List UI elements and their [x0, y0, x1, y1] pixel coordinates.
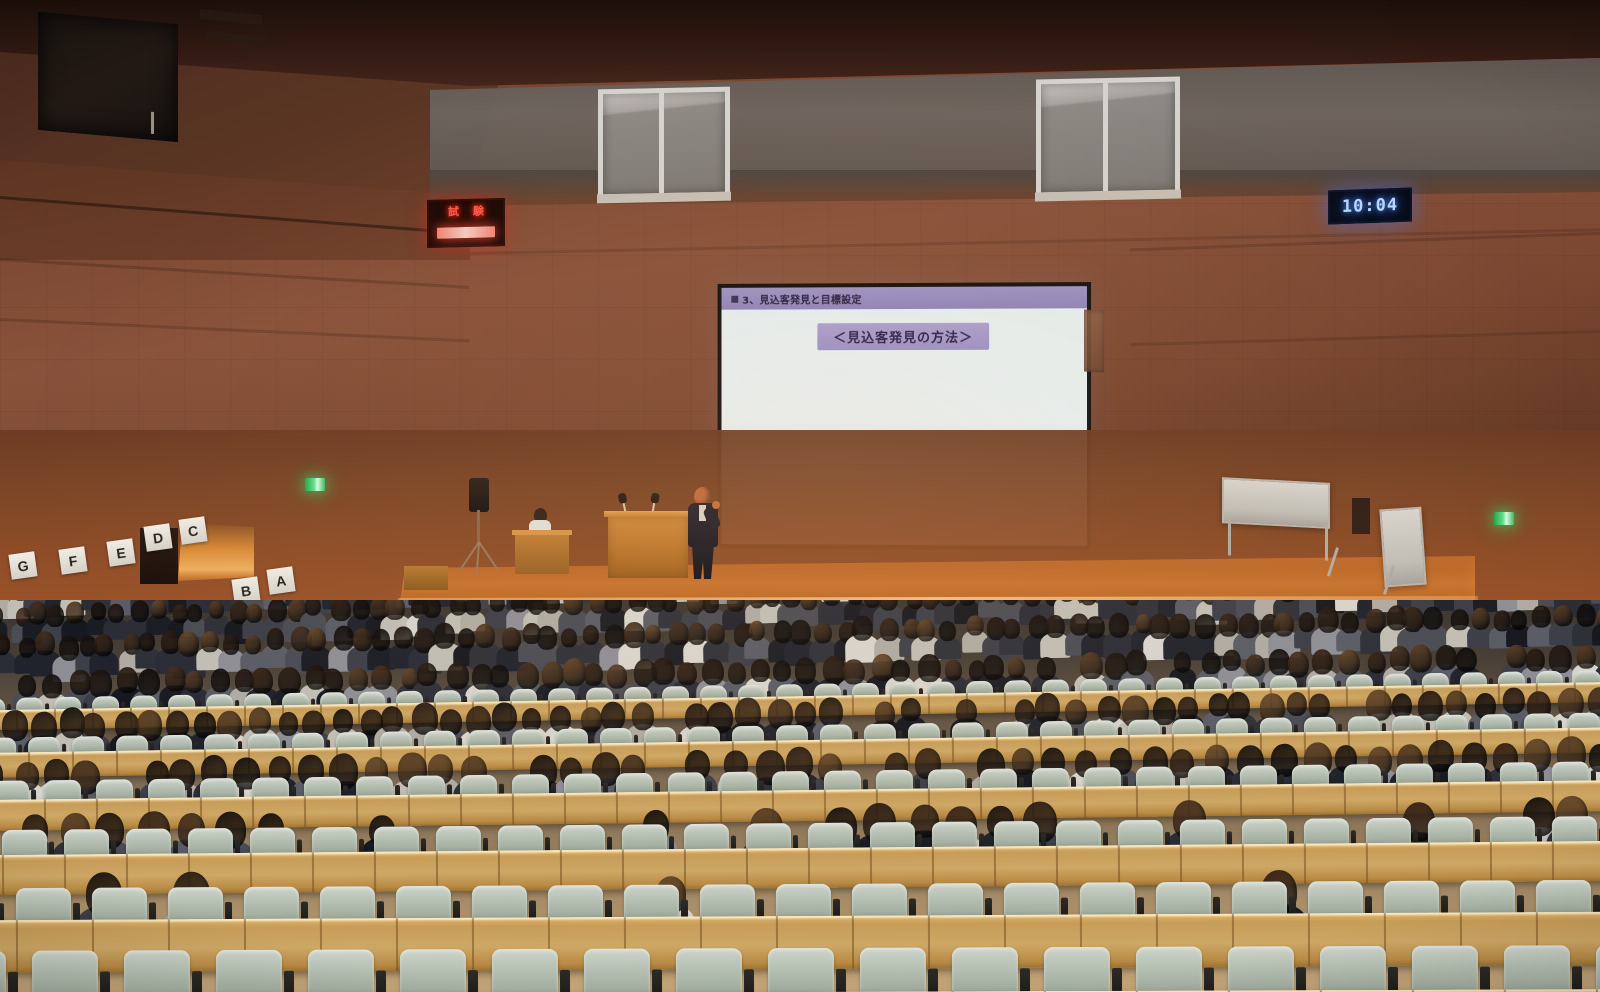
attendee-head — [70, 669, 91, 694]
attendee-head — [677, 661, 697, 685]
seat-cushion[interactable] — [860, 948, 926, 992]
attendee-head — [983, 655, 1004, 680]
presenter-legs — [692, 545, 714, 579]
attendee-head — [1445, 691, 1466, 717]
seat-armrest-post — [836, 969, 846, 992]
attendee-head — [955, 699, 976, 725]
seat-cushion[interactable] — [1136, 947, 1202, 992]
attendee-head — [1436, 644, 1458, 670]
seat-armrest-post — [1296, 967, 1306, 992]
attendee-head — [1423, 606, 1443, 630]
attendee-head — [417, 662, 437, 685]
attendee-head — [819, 697, 844, 726]
seat-cushion[interactable] — [584, 949, 650, 992]
audience-seating — [0, 600, 1600, 992]
desk-top — [512, 530, 572, 535]
attendee-head — [708, 623, 726, 644]
attendee-head — [561, 628, 577, 648]
seat-cushion[interactable] — [124, 950, 190, 992]
attendee-head — [1298, 613, 1314, 633]
attendee-head — [35, 631, 56, 656]
pa-speaker-on-tripod — [466, 478, 492, 578]
slide-title-text: ＜見込客発見の方法＞ — [833, 327, 973, 346]
attendee-head — [1035, 693, 1060, 723]
attendee-head — [490, 664, 509, 687]
attendee-head — [385, 600, 405, 621]
seat-armrest-post — [376, 970, 386, 992]
attendee-head — [1178, 697, 1198, 721]
attendee-head — [66, 602, 84, 624]
attendee-head — [939, 621, 956, 641]
attendee-head — [1392, 693, 1413, 718]
seat-armrest-post — [100, 971, 110, 992]
led-char-2: 験 — [473, 206, 484, 217]
attendee-head — [465, 600, 481, 616]
attendee-head — [1086, 616, 1105, 639]
seat-cushion[interactable] — [676, 949, 742, 992]
attendee-head — [266, 628, 284, 650]
attendee-head — [967, 615, 984, 635]
attendee-head — [751, 659, 770, 682]
seat-armrest-post — [1572, 966, 1582, 992]
attendee-head — [89, 669, 112, 697]
attendee-head — [246, 604, 262, 623]
attendee-head — [601, 702, 626, 732]
attendee-head — [1510, 610, 1527, 630]
row-sign-label: D — [152, 529, 164, 546]
attendee-head — [1003, 619, 1020, 639]
attendee-head — [1341, 612, 1359, 633]
slide-header-text: 3、見込客発見と目標設定 — [742, 291, 861, 306]
attendee-head — [1532, 606, 1550, 628]
seat-cushion[interactable] — [492, 949, 558, 992]
attendee-head — [652, 657, 675, 685]
attendee-head — [165, 666, 186, 691]
attendee-head — [1008, 658, 1025, 679]
attendee-head — [322, 668, 343, 694]
attendee-head — [277, 667, 300, 695]
attendee-head — [917, 654, 940, 682]
attendee-head — [1456, 647, 1477, 672]
acoustic-panel-opening — [38, 12, 178, 142]
attendee-head — [91, 602, 106, 620]
attendee-head — [372, 629, 391, 651]
attendee-head — [879, 618, 898, 641]
attendee-head — [814, 622, 832, 644]
row-sign-label: C — [187, 522, 199, 539]
attendee-head — [1194, 614, 1215, 640]
booth-window-left — [598, 87, 730, 200]
attendee-head — [1312, 649, 1334, 675]
seat-armrest-post — [928, 969, 938, 992]
row-sign-label: B — [240, 582, 252, 599]
attendee-head — [245, 635, 261, 654]
clock-time: 10:04 — [1342, 195, 1398, 217]
attendee-head — [333, 626, 354, 651]
attendee-head — [1317, 607, 1339, 633]
attendee-head — [1045, 615, 1065, 638]
seat-cushion[interactable] — [952, 948, 1018, 992]
attendee-head — [1548, 645, 1571, 673]
presenter-hand — [712, 501, 720, 509]
attendee-head — [688, 623, 706, 645]
seat-armrest-post — [1388, 967, 1398, 992]
slide-title-box: ＜見込客発見の方法＞ — [817, 323, 989, 351]
panel-light-slit — [151, 112, 154, 134]
attendee-head — [1173, 651, 1191, 672]
attendee-head — [1209, 693, 1229, 717]
attendee-head — [1554, 605, 1572, 627]
attendee-head — [1507, 644, 1527, 668]
attendee-head — [1273, 612, 1294, 637]
row-sign-D: D — [143, 523, 172, 551]
attendee-head — [18, 674, 37, 697]
attendee-head — [875, 702, 895, 727]
attendee-head — [1037, 656, 1057, 680]
attendee-head — [1080, 652, 1103, 679]
attendee-head — [1409, 644, 1432, 672]
attendee-head — [42, 674, 62, 698]
row-sign-E: E — [106, 538, 135, 566]
seat-cushion[interactable] — [308, 950, 374, 992]
seat-armrest-post — [192, 971, 202, 992]
stage-dark-speaker — [1352, 498, 1370, 534]
seat-armrest-post — [1204, 968, 1214, 992]
attendee-head — [209, 600, 225, 619]
attendee-head — [1577, 646, 1596, 669]
seat-cushion[interactable] — [32, 951, 98, 992]
attendee-head — [1287, 651, 1309, 677]
attendee-head — [917, 620, 936, 643]
attendee-head — [116, 667, 138, 693]
attendee-head — [843, 659, 865, 685]
led-bar — [437, 226, 495, 239]
attendee-head — [1451, 609, 1469, 630]
whiteboard-1-legs — [1228, 519, 1328, 560]
row-sign-label: A — [275, 572, 287, 589]
speaker-cabinet — [469, 478, 489, 512]
attendee-head — [1525, 648, 1545, 672]
attendee-head — [1338, 649, 1359, 675]
seat-cushion[interactable] — [0, 951, 6, 992]
seat-cushion[interactable] — [216, 950, 282, 992]
digital-clock: 10:04 — [1328, 188, 1412, 225]
attendee-head — [1472, 608, 1490, 630]
window-mullion — [1103, 83, 1108, 191]
seat-cushion-row — [0, 945, 1600, 992]
attendee-head — [1238, 613, 1259, 638]
row-sign-label: G — [16, 557, 29, 574]
attendee-head — [631, 703, 654, 731]
attendee-head — [727, 662, 746, 684]
attendee-head — [447, 662, 469, 689]
attendee-head — [381, 706, 404, 733]
wall-speaker — [1084, 309, 1104, 372]
attendee-head — [1577, 603, 1596, 626]
exit-sign-right — [1494, 512, 1514, 525]
row-sign-label: F — [68, 552, 79, 569]
seat-armrest-post — [468, 970, 478, 992]
slide-bullet-icon — [731, 295, 738, 302]
slide-header: 3、見込客発見と目標設定 — [721, 286, 1087, 310]
attendee-head — [201, 631, 219, 653]
attendee-head — [1309, 694, 1330, 719]
attendee-head — [607, 665, 627, 689]
attendee-head — [211, 668, 231, 692]
exit-sign-left — [305, 478, 325, 491]
seat-cushion[interactable] — [1228, 947, 1294, 992]
attendee-head — [178, 631, 199, 657]
attendee-head — [411, 703, 437, 734]
attendee-head — [1503, 687, 1525, 714]
attendee-head — [185, 670, 204, 693]
attendee-head — [394, 626, 413, 649]
seat-armrest-post — [1480, 967, 1490, 992]
attendee-head — [901, 698, 921, 722]
led-char-1: 試 — [448, 206, 459, 217]
window-mullion — [659, 93, 664, 193]
attendee-head — [1286, 692, 1307, 717]
seat-armrest-post — [560, 970, 570, 992]
seat-cushion[interactable] — [768, 948, 834, 992]
side-desk — [515, 534, 569, 574]
attendee-head — [353, 628, 373, 652]
attendee-head — [160, 631, 180, 655]
attendee-head — [583, 663, 603, 686]
attendee-head — [795, 702, 816, 727]
attendee-head — [187, 605, 202, 623]
attendee-head — [1202, 651, 1221, 673]
attendee-head — [644, 625, 660, 645]
attendee-head — [563, 658, 586, 686]
lectern-top — [604, 511, 692, 517]
attendee-head — [1109, 613, 1130, 638]
attendee-head — [130, 600, 149, 622]
attendee-head — [434, 623, 456, 649]
presenter — [686, 487, 720, 579]
booth-window-right — [1036, 76, 1180, 197]
attendee-head — [1389, 646, 1410, 671]
attendee-head — [748, 621, 765, 641]
seat-armrest-post — [652, 969, 662, 992]
attendee-head — [1246, 654, 1265, 677]
attendee-head — [492, 702, 517, 732]
seat-cushion[interactable] — [1320, 946, 1386, 992]
attendee-head — [349, 667, 368, 690]
attendee-head — [139, 632, 156, 652]
attendee-head — [891, 659, 910, 682]
attendee-head — [333, 709, 353, 733]
seat-cushion[interactable] — [1504, 946, 1570, 992]
seat-cushion[interactable] — [1596, 945, 1600, 992]
row-sign-C: C — [178, 516, 207, 544]
seat-armrest-post — [8, 972, 18, 992]
attendee-head — [1169, 613, 1190, 638]
auditorium-photo: 試 験 10:04 3、見込客発見と目標設定 ＜見込客発見の方法＞ 18 — [0, 0, 1600, 992]
attendee-head — [94, 634, 113, 656]
attendee-head — [306, 628, 326, 652]
attendee-head — [137, 668, 160, 696]
seat-armrest-post — [744, 969, 754, 992]
attendee-head — [536, 625, 557, 650]
attendee-head — [249, 708, 272, 735]
attendee-head — [331, 600, 351, 622]
attendee-head — [851, 616, 872, 642]
row-sign-G: G — [8, 551, 37, 579]
attendee-head — [702, 659, 724, 685]
row-sign-label: E — [115, 544, 126, 561]
seat-cushion[interactable] — [400, 949, 466, 992]
attendee-head — [251, 667, 273, 694]
attendee-head — [1222, 649, 1240, 671]
attendee-head — [151, 600, 167, 619]
attendee-head — [517, 663, 539, 689]
attendee-head — [1227, 692, 1251, 720]
seat-armrest-post — [284, 971, 294, 992]
attendee-head — [371, 665, 392, 690]
attendee-head — [1125, 649, 1147, 675]
lectern — [608, 516, 688, 578]
attendee-head — [28, 602, 48, 625]
attendee-head — [945, 660, 963, 681]
attendee-head — [475, 624, 495, 648]
seat-cushion[interactable] — [1044, 947, 1110, 992]
seat-cushion[interactable] — [1412, 946, 1478, 992]
attendee-head — [108, 604, 125, 624]
seat-armrest-post — [1112, 968, 1122, 992]
attendee-head — [735, 698, 761, 729]
low-table — [404, 566, 448, 590]
attendee-head — [352, 600, 370, 620]
row-sign-A: A — [266, 566, 295, 594]
red-led-sign: 試 験 — [427, 198, 505, 248]
attendee-head — [1219, 614, 1238, 637]
attendee-head — [267, 600, 287, 623]
attendee-head — [794, 657, 816, 684]
attendee-head — [1368, 652, 1386, 674]
seat-armrest-post — [1020, 968, 1030, 992]
attendee-head — [223, 635, 240, 655]
row-sign-F: F — [58, 546, 87, 574]
attendee-head — [790, 620, 811, 645]
attendee-head — [773, 660, 791, 682]
